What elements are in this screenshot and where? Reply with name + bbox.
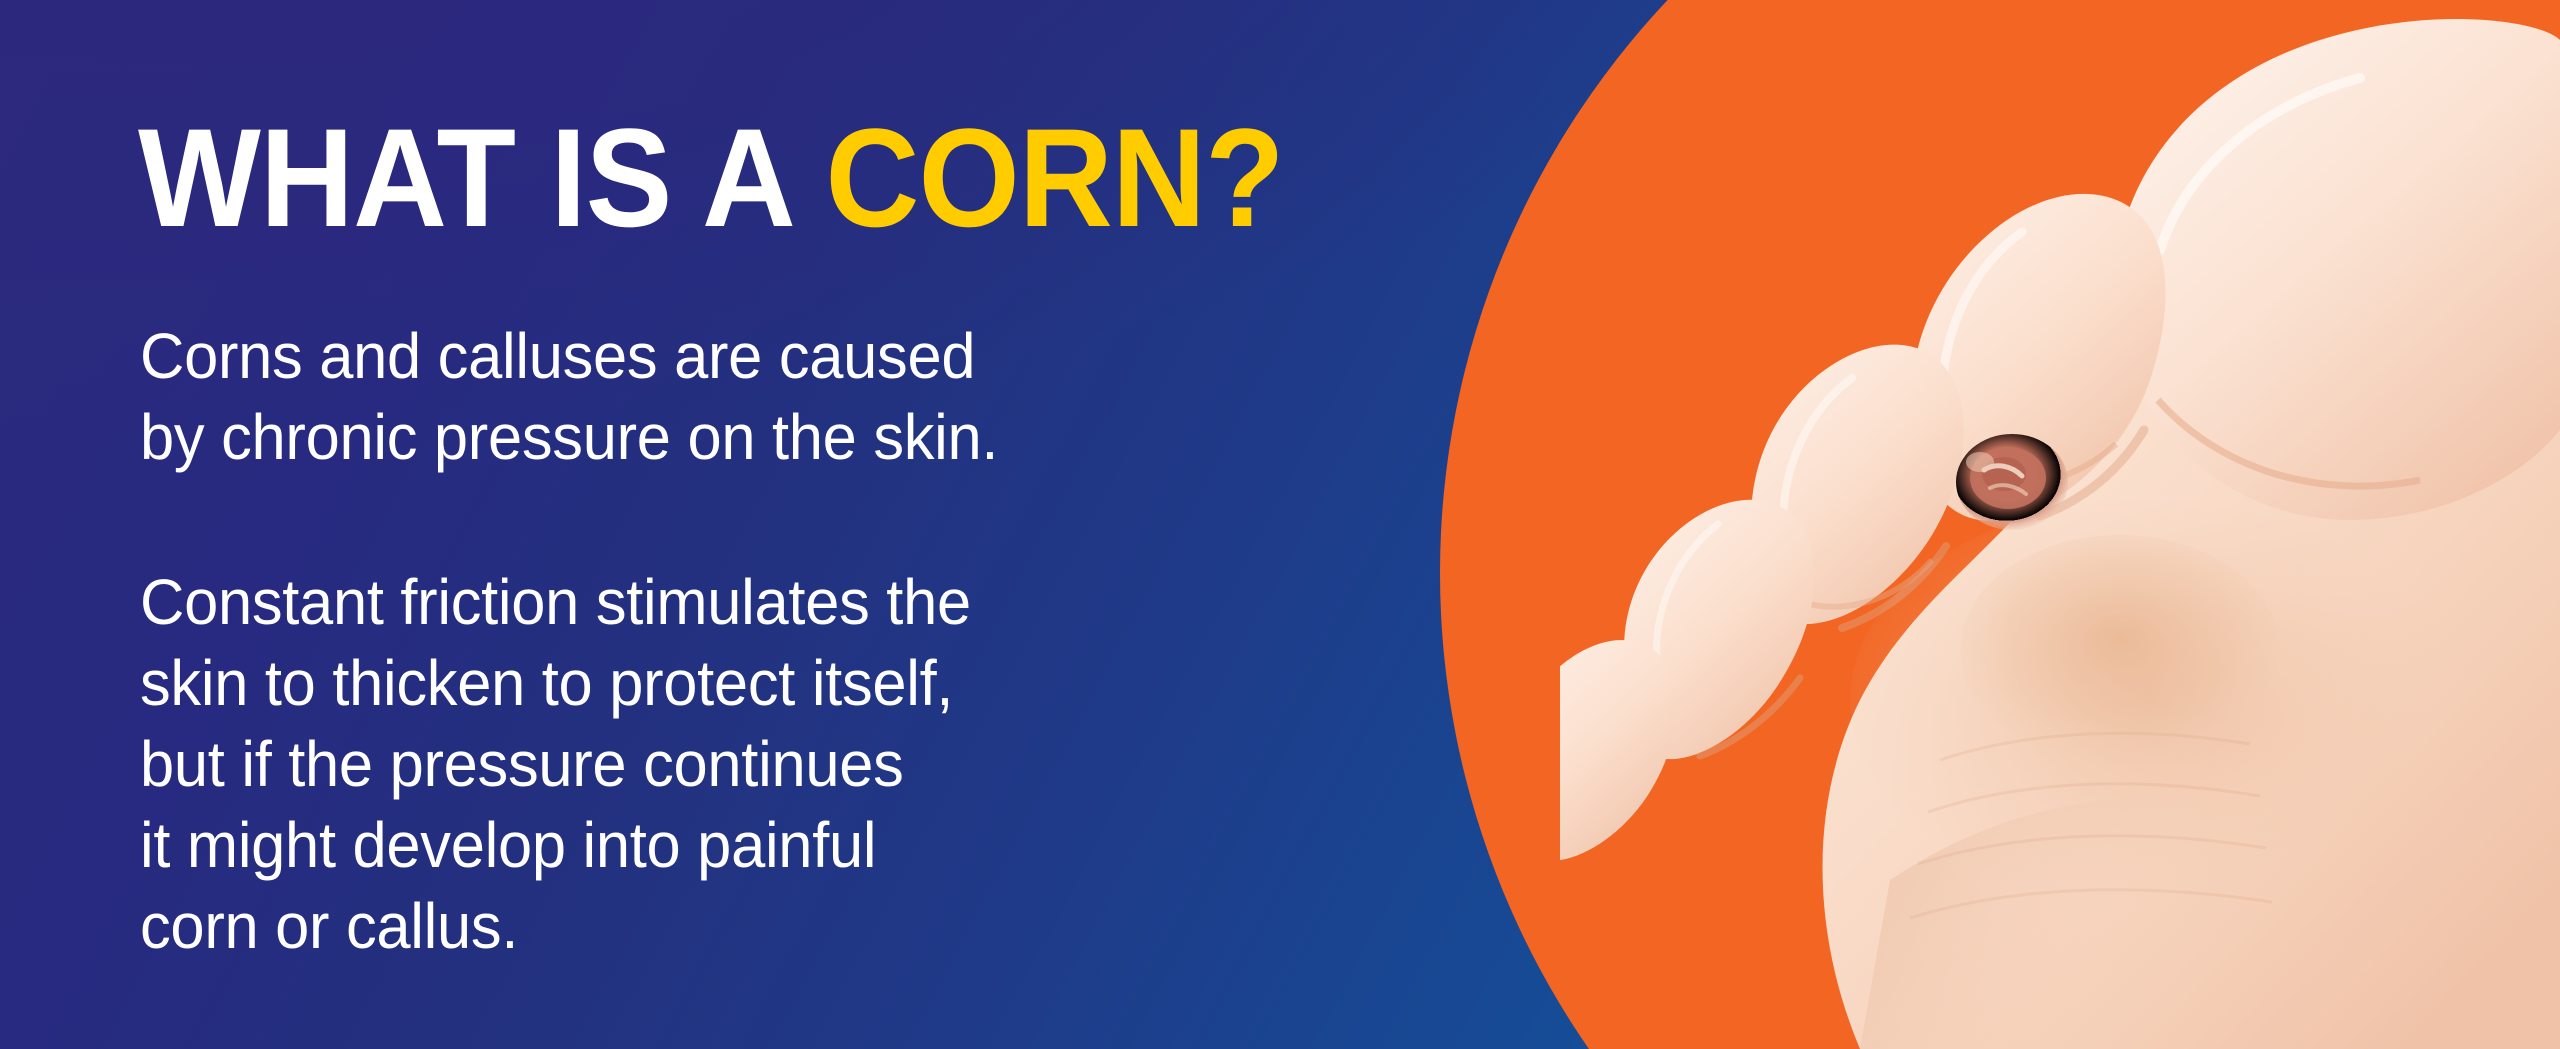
big-toe	[2115, 19, 2560, 520]
paragraph-two-line-4: it might develop into painful	[140, 805, 971, 886]
page-title: WHAT IS A CORN?	[138, 108, 1284, 248]
paragraph-one: Corns and calluses are caused by chronic…	[140, 316, 998, 478]
paragraph-one-line-1: Corns and calluses are caused	[140, 316, 998, 397]
foot-sole-with-corn-photo	[1560, 0, 2560, 1049]
text-column: WHAT IS A CORN? Corns and calluses are c…	[138, 0, 1288, 1049]
infographic-banner: WHAT IS A CORN? Corns and calluses are c…	[0, 0, 2560, 1049]
headline-accent: CORN?	[825, 99, 1283, 256]
paragraph-two-line-5: corn or callus.	[140, 886, 971, 967]
headline-lead: WHAT IS A	[138, 99, 825, 256]
paragraph-one-line-2: by chronic pressure on the skin.	[140, 397, 998, 478]
paragraph-two-line-1: Constant friction stimulates the	[140, 562, 971, 643]
callus-thickened-skin	[1960, 535, 2280, 765]
paragraph-two-line-2: skin to thicken to protect itself,	[140, 643, 971, 724]
corn-lesion	[1956, 434, 2068, 530]
paragraph-two: Constant friction stimulates the skin to…	[140, 562, 971, 967]
little-toe	[1560, 640, 1676, 861]
paragraph-two-line-3: but if the pressure continues	[140, 724, 971, 805]
